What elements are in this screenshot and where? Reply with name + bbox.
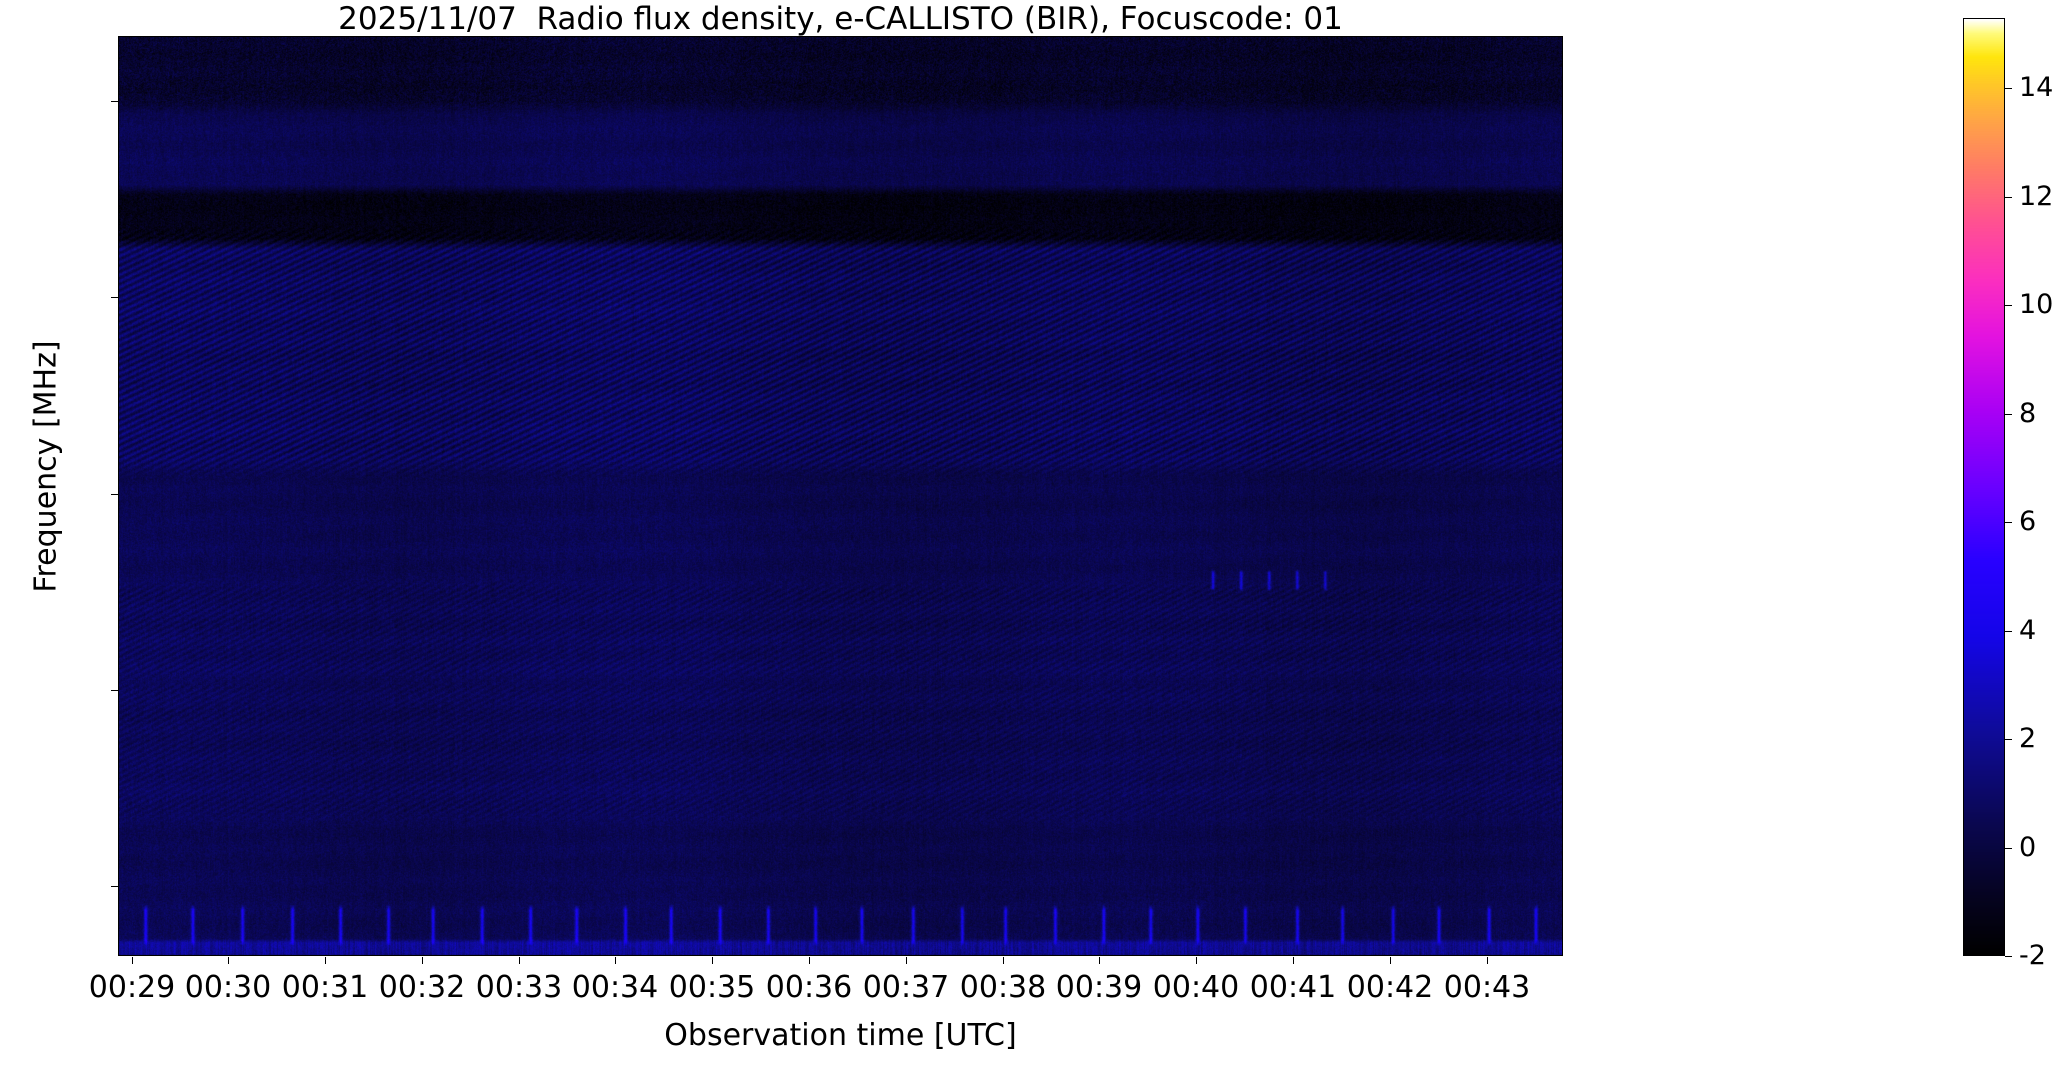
colorbar-tick-mark <box>2005 305 2012 306</box>
x-axis-tick-mark <box>422 957 423 964</box>
y-axis-tick-mark <box>111 494 118 495</box>
x-axis-label: Observation time [UTC] <box>118 1018 1563 1053</box>
colorbar-tick-label: 14 <box>2019 74 2066 101</box>
colorbar-tick-mark <box>2005 848 2012 849</box>
colorbar-tick-label: 6 <box>2019 508 2066 535</box>
spectrogram-image <box>119 37 1562 955</box>
colorbar-tick-mark <box>2005 414 2012 415</box>
x-axis-tick-mark <box>519 957 520 964</box>
y-axis-tick-mark <box>111 297 118 298</box>
colorbar-tick-label: 8 <box>2019 400 2066 427</box>
colorbar-tick-label: 2 <box>2019 725 2066 752</box>
colorbar-tick-mark <box>2005 88 2012 89</box>
x-axis-tick-mark <box>325 957 326 964</box>
colorbar-tick-mark <box>2005 956 2012 957</box>
colorbar-tick-label: 0 <box>2019 834 2066 861</box>
page-title: 2025/11/07 Radio flux density, e-CALLIST… <box>118 2 1563 36</box>
colorbar-tick-mark <box>2005 197 2012 198</box>
x-axis-tick-mark <box>1390 957 1391 964</box>
x-axis-tick-mark <box>1003 957 1004 964</box>
x-axis-tick-mark <box>228 957 229 964</box>
y-axis-tick-mark <box>111 886 118 887</box>
y-axis-tick-mark <box>111 101 118 102</box>
x-axis-tick-mark <box>1196 957 1197 964</box>
y-axis-label: Frequency [MHz] <box>29 157 64 777</box>
y-axis-tick-mark <box>111 690 118 691</box>
x-axis-tick-mark <box>1293 957 1294 964</box>
x-axis-tick-label: 00:43 <box>1387 972 1587 1004</box>
colorbar-tick-label: -2 <box>2019 942 2066 969</box>
colorbar <box>1963 18 2005 956</box>
x-axis-tick-mark <box>906 957 907 964</box>
colorbar-tick-mark <box>2005 522 2012 523</box>
colorbar-gradient <box>1964 19 2004 955</box>
x-axis-tick-mark <box>1487 957 1488 964</box>
x-axis-tick-mark <box>615 957 616 964</box>
colorbar-tick-label: 10 <box>2019 291 2066 318</box>
x-axis-tick-mark <box>132 957 133 964</box>
colorbar-tick-label: 4 <box>2019 617 2066 644</box>
colorbar-tick-label: 12 <box>2019 183 2066 210</box>
x-axis-tick-mark <box>712 957 713 964</box>
colorbar-tick-mark <box>2005 631 2012 632</box>
spectrogram-figure: 2025/11/07 Radio flux density, e-CALLIST… <box>0 0 2066 1067</box>
x-axis-tick-mark <box>1099 957 1100 964</box>
colorbar-tick-mark <box>2005 739 2012 740</box>
spectrogram-plot-area <box>118 36 1563 956</box>
x-axis-tick-mark <box>809 957 810 964</box>
